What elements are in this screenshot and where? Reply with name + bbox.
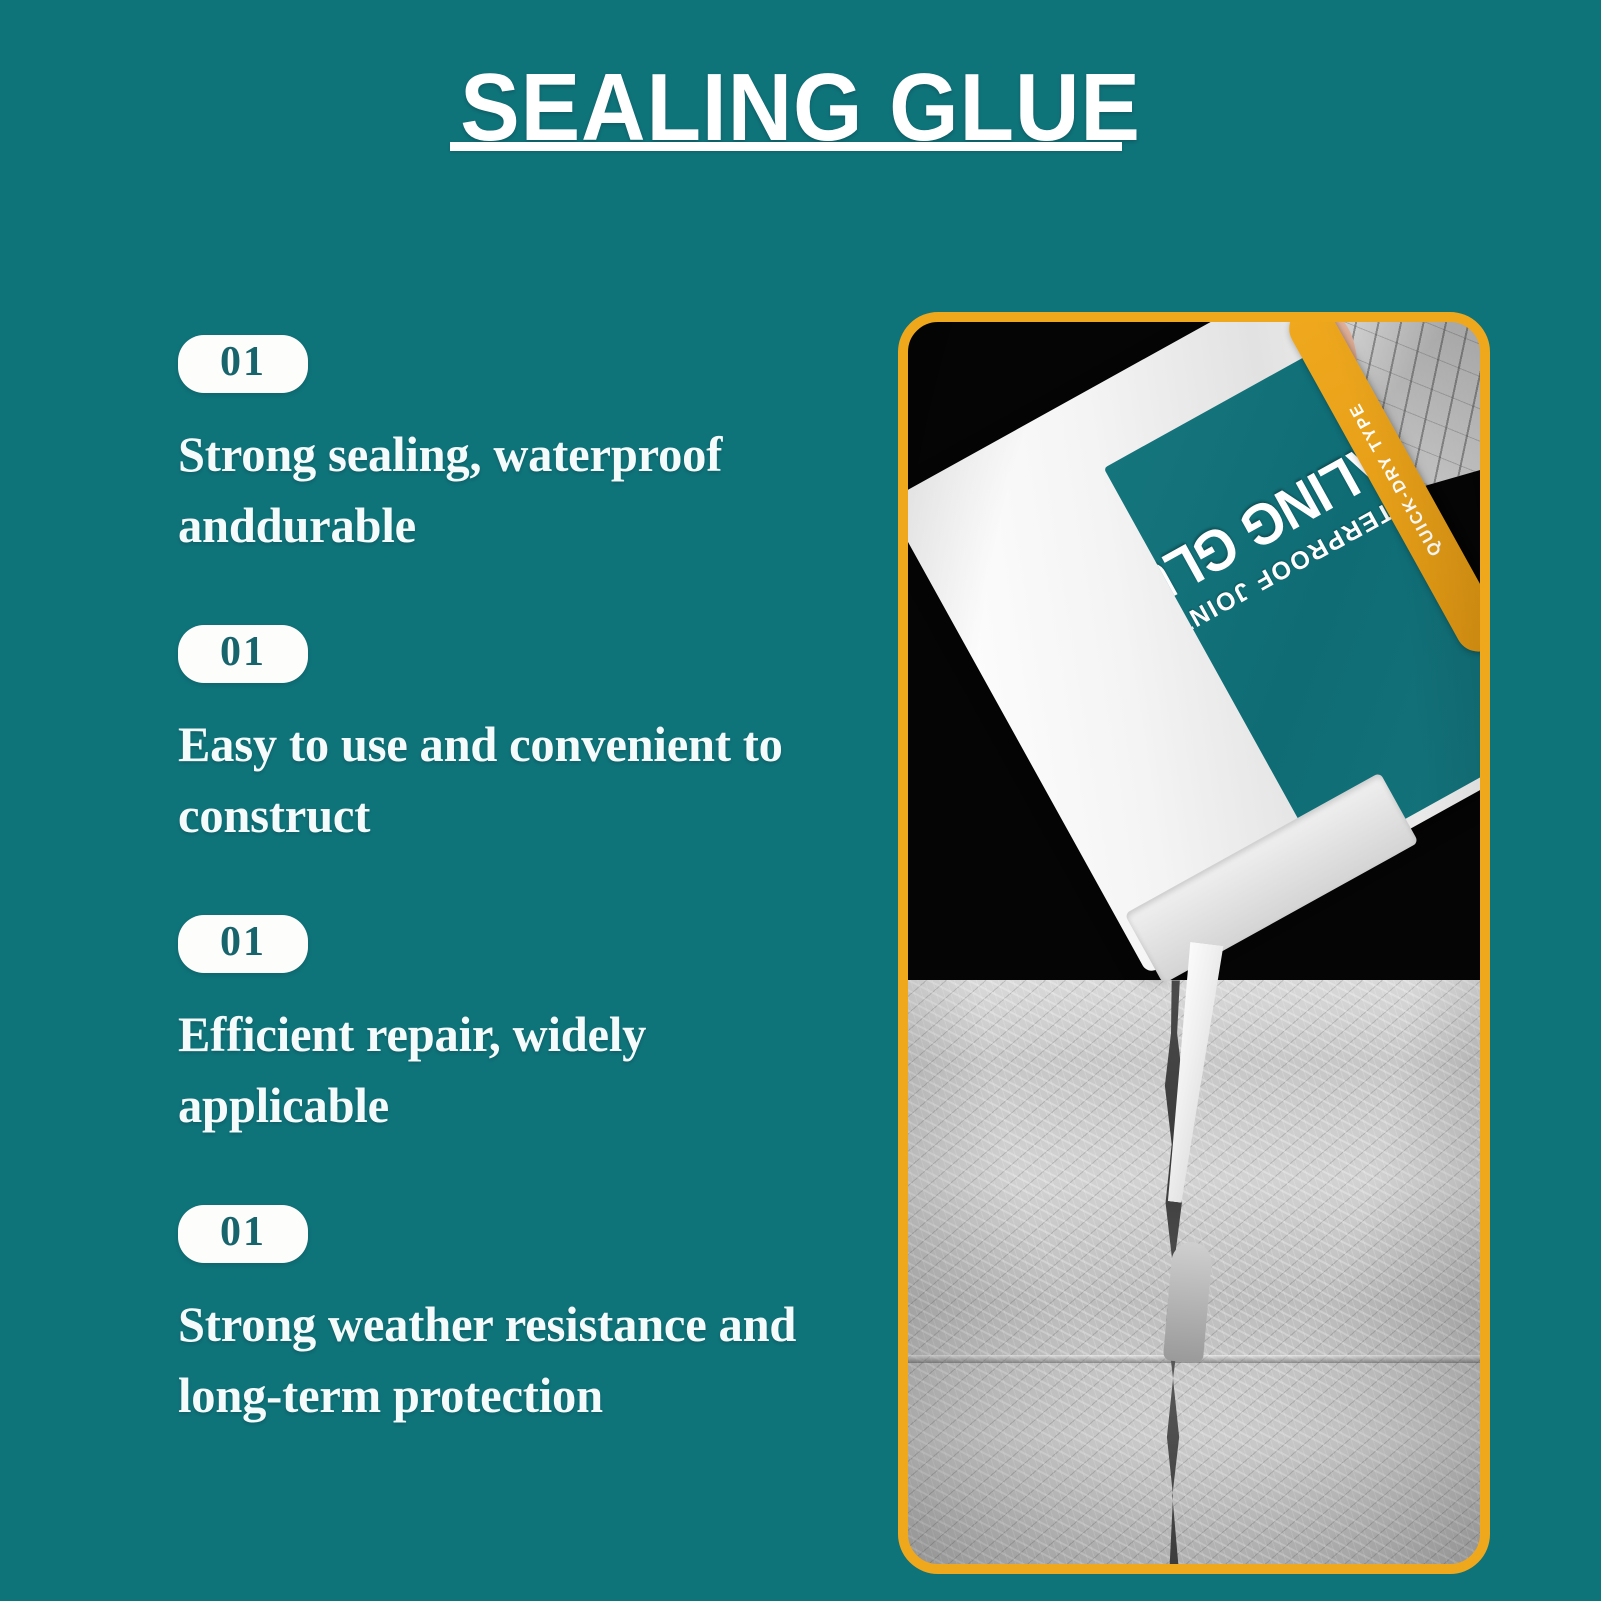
product-photo-panel: WATERPROOF JOINT SEALING GLUE QUICK-DRY … — [898, 312, 1490, 1574]
feature-number-label-3: 01 — [204, 920, 282, 964]
title-underline-rule — [450, 142, 1122, 151]
feature-item-4: 01 Strong weather resistance and long-te… — [178, 1205, 878, 1431]
feature-description-4: Strong weather resistance and long-term … — [178, 1289, 847, 1431]
product-infographic-poster: SEALING GLUE 01 Strong sealing, waterpro… — [0, 0, 1601, 1601]
feature-number-badge-1: 01 — [178, 335, 308, 393]
photo-vignette — [906, 320, 1482, 1566]
feature-number-label-2: 01 — [204, 630, 282, 674]
feature-item-3: 01 Efficient repair, widely applicable — [178, 915, 878, 1141]
feature-number-label-1: 01 — [204, 340, 282, 384]
feature-number-badge-4: 01 — [178, 1205, 308, 1263]
feature-number-label-4: 01 — [204, 1210, 282, 1254]
feature-description-1: Strong sealing, waterproof anddurable — [178, 419, 847, 561]
feature-item-1: 01 Strong sealing, waterproof anddurable — [178, 335, 878, 561]
feature-number-badge-3: 01 — [178, 915, 308, 973]
feature-list: 01 Strong sealing, waterproof anddurable… — [178, 335, 878, 1431]
feature-item-2: 01 Easy to use and convenient to constru… — [178, 625, 878, 851]
feature-description-3: Efficient repair, widely applicable — [178, 999, 847, 1141]
feature-number-badge-2: 01 — [178, 625, 308, 683]
product-photo: WATERPROOF JOINT SEALING GLUE QUICK-DRY … — [906, 320, 1482, 1566]
feature-description-2: Easy to use and convenient to construct — [178, 709, 847, 851]
